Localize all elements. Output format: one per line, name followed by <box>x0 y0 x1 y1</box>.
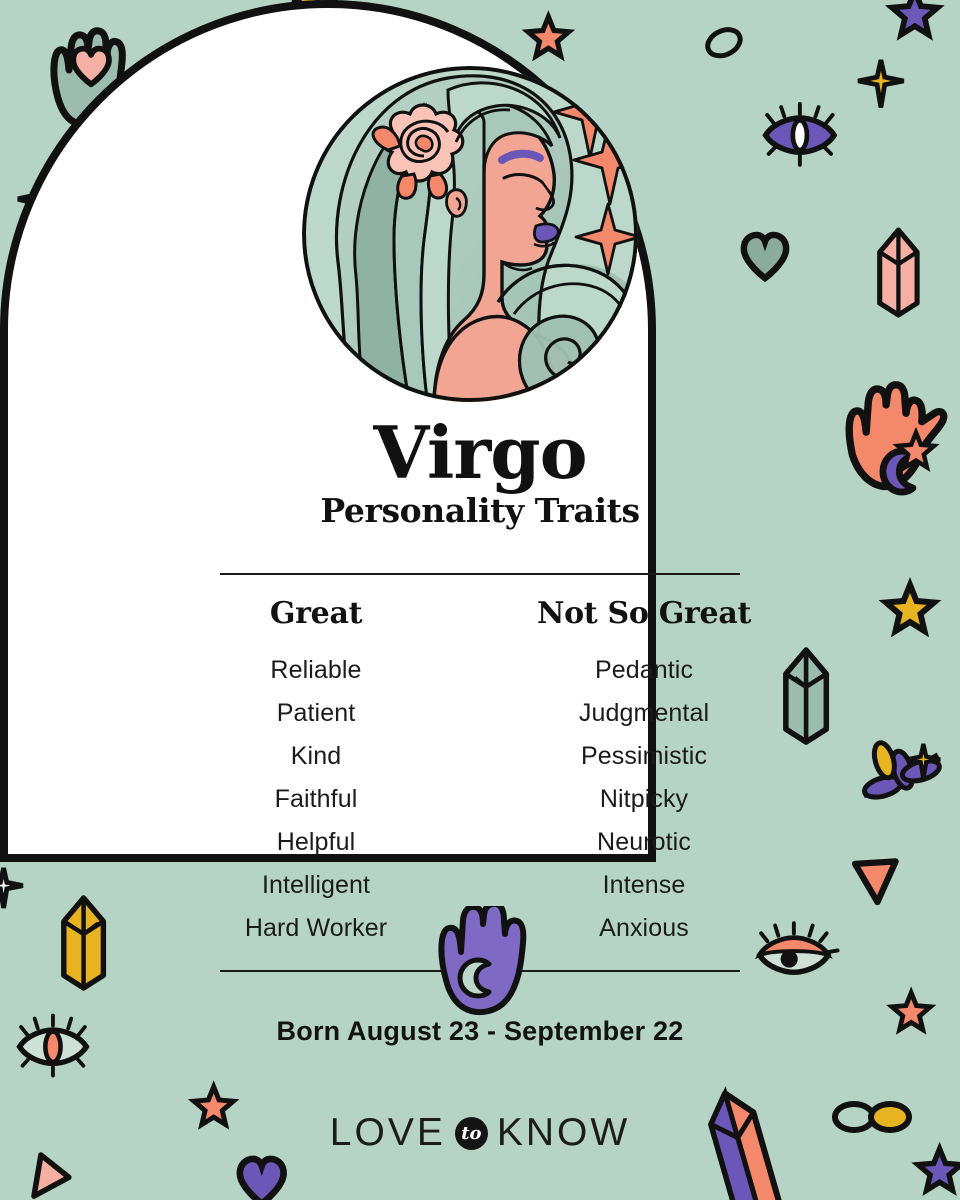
crystal-icon <box>64 898 104 988</box>
list-item: Anxious <box>480 907 808 950</box>
list-item: Intense <box>480 864 808 907</box>
gold-sparkle-icon <box>858 60 904 108</box>
divider-top <box>220 573 740 575</box>
hand-with-moon-icon <box>432 906 528 1018</box>
list-item: Nitpicky <box>480 778 808 821</box>
list-item: Neurotic <box>480 821 808 864</box>
traits-column-great: Great Reliable Patient Kind Faithful Hel… <box>152 596 480 950</box>
lovetoknow-logo: LOVE to KNOW <box>0 1108 960 1158</box>
triangle-icon <box>22 1155 72 1200</box>
list-item: Kind <box>152 735 480 778</box>
page-title: Virgo <box>152 420 808 486</box>
column-heading: Great <box>152 596 480 631</box>
virgo-personality-traits-poster: Virgo Personality Traits Great Reliable … <box>0 0 960 1200</box>
traits-column-not-so-great: Not So Great Pedantic Judgmental Pessimi… <box>480 596 808 950</box>
list-item: Helpful <box>152 821 480 864</box>
list-item: Patient <box>152 692 480 735</box>
list-item: Reliable <box>152 649 480 692</box>
logo-to-badge: to <box>455 1117 488 1150</box>
white-sparkle-icon <box>0 868 23 908</box>
page-subtitle: Personality Traits <box>152 490 808 531</box>
list-item: Pessimistic <box>480 735 808 778</box>
logo-word-love: LOVE <box>330 1111 446 1155</box>
eye-icon <box>20 1016 87 1076</box>
eye-icon <box>766 104 835 165</box>
born-date-range: Born August 23 - September 22 <box>152 1016 808 1047</box>
traits-columns: Great Reliable Patient Kind Faithful Hel… <box>152 596 808 950</box>
title-block: Virgo Personality Traits <box>152 420 808 531</box>
column-heading: Not So Great <box>480 596 808 631</box>
leaf-sprig-icon <box>856 736 947 818</box>
trait-list-great: Reliable Patient Kind Faithful Helpful I… <box>152 649 480 950</box>
card-content: Virgo Personality Traits Great Reliable … <box>152 218 808 1080</box>
infinity-icon <box>703 25 744 61</box>
list-item: Judgmental <box>480 692 808 735</box>
heart-icon <box>240 1159 284 1200</box>
list-item: Pedantic <box>480 649 808 692</box>
list-item: Intelligent <box>152 864 480 907</box>
triangle-icon <box>855 854 904 905</box>
list-item: Faithful <box>152 778 480 821</box>
logo-word-know: KNOW <box>497 1111 630 1155</box>
hand-with-moon-icon <box>849 385 944 492</box>
trait-list-not-so-great: Pedantic Judgmental Pessimistic Nitpicky… <box>480 649 808 950</box>
five-point-star-icon <box>892 993 930 1030</box>
list-item: Hard Worker <box>152 907 480 950</box>
gold-star-icon <box>886 585 934 631</box>
purple-star-icon <box>892 0 938 35</box>
crystal-icon <box>880 230 917 315</box>
